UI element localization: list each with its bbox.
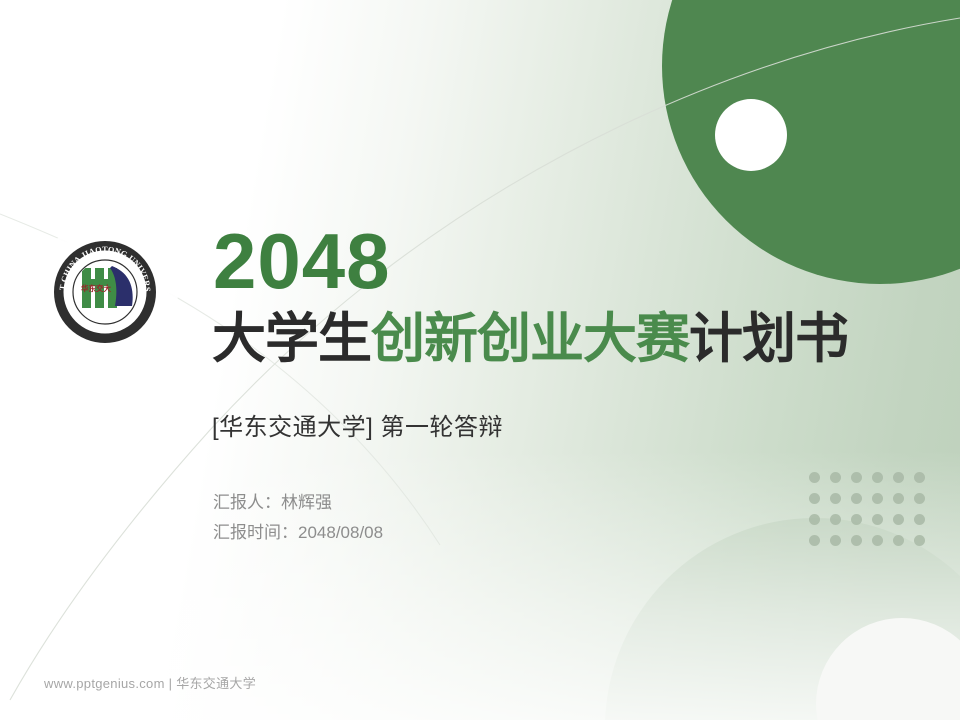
- grid-dot: [893, 493, 904, 504]
- slide-subtitle: [华东交通大学] 第一轮答辩: [212, 407, 503, 442]
- decorative-dot-grid: [809, 472, 935, 556]
- grid-dot: [809, 493, 820, 504]
- date-line: 汇报时间：2048/08/08: [213, 518, 383, 548]
- grid-dot: [872, 514, 883, 525]
- grid-dot: [809, 514, 820, 525]
- presentation-slide: EAST CHINA JIAOTONG UNIVERSITY 华东交通大学 华东…: [0, 0, 960, 720]
- grid-dot: [872, 493, 883, 504]
- grid-dot: [914, 493, 925, 504]
- title-part-2: 创新创业大赛: [371, 309, 689, 369]
- title-part-1: 大学生: [212, 309, 371, 369]
- decorative-white-circle-top: [715, 99, 787, 171]
- grid-dot: [914, 472, 925, 483]
- grid-dot: [893, 514, 904, 525]
- university-seal-icon: EAST CHINA JIAOTONG UNIVERSITY 华东交通大学 华东…: [52, 239, 158, 345]
- grid-dot: [914, 535, 925, 546]
- grid-dot: [851, 493, 862, 504]
- grid-dot: [872, 535, 883, 546]
- grid-dot: [851, 472, 862, 483]
- grid-dot: [872, 472, 883, 483]
- slide-title: 大学生创新创业大赛计划书: [212, 310, 848, 369]
- grid-dot: [914, 514, 925, 525]
- presenter-line: 汇报人：林辉强: [213, 488, 383, 518]
- title-part-3: 计划书: [689, 309, 848, 369]
- grid-dot: [851, 535, 862, 546]
- svg-text:华东交大: 华东交大: [81, 283, 111, 293]
- grid-dot: [830, 535, 841, 546]
- slide-footer: www.pptgenius.com | 华东交通大学: [44, 673, 256, 692]
- grid-dot: [893, 535, 904, 546]
- slide-year: 2048: [213, 222, 391, 300]
- grid-dot: [893, 472, 904, 483]
- grid-dot: [809, 535, 820, 546]
- grid-dot: [830, 493, 841, 504]
- university-logo: EAST CHINA JIAOTONG UNIVERSITY 华东交通大学 华东…: [33, 220, 178, 365]
- slide-meta: 汇报人：林辉强 汇报时间：2048/08/08: [213, 488, 383, 548]
- grid-dot: [851, 514, 862, 525]
- grid-dot: [809, 472, 820, 483]
- grid-dot: [830, 472, 841, 483]
- grid-dot: [830, 514, 841, 525]
